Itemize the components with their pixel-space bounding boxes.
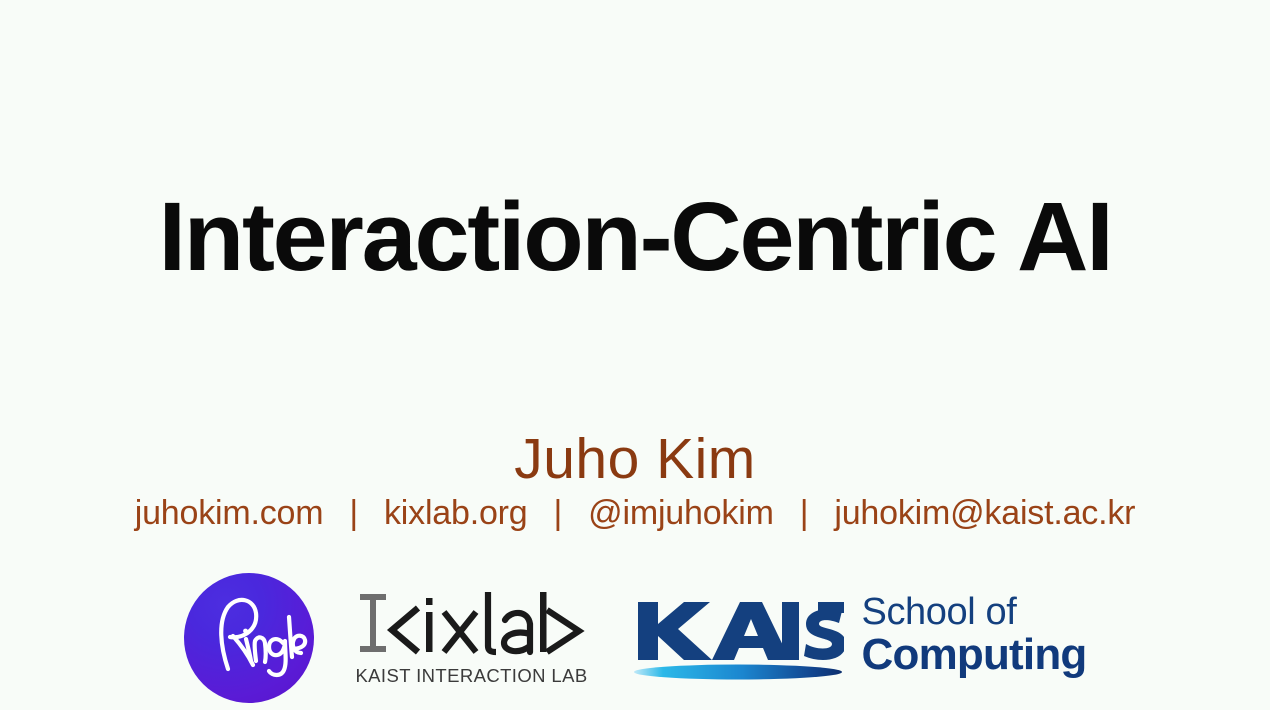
contact-link-website[interactable]: juhokim.com xyxy=(131,494,328,533)
contact-link-email[interactable]: juhokim@kaist.ac.kr xyxy=(830,494,1139,533)
kaist-wordmark xyxy=(632,592,844,684)
contact-link-social[interactable]: @imjuhokim xyxy=(584,494,778,533)
kixlab-logo: KAIST INTERACTION LAB xyxy=(356,586,588,690)
ringle-logo xyxy=(184,573,314,703)
page-title: Interaction-Centric AI xyxy=(0,186,1270,288)
school-of-computing-text: School of Computing xyxy=(862,593,1087,683)
title-slide: Interaction-Centric AI Juho Kim juhokim.… xyxy=(0,0,1270,710)
logo-row: KAIST INTERACTION LAB xyxy=(0,566,1270,710)
contact-separator: | xyxy=(327,494,380,533)
author-name: Juho Kim xyxy=(0,428,1270,491)
contact-separator: | xyxy=(532,494,585,533)
contact-links: juhokim.com | kixlab.org | @imjuhokim | … xyxy=(0,494,1270,533)
computing-label: Computing xyxy=(862,633,1087,677)
kaist-school-of-computing-logo: School of Computing xyxy=(632,592,1087,684)
contact-link-lab[interactable]: kixlab.org xyxy=(380,494,532,533)
kixlab-subtitle: KAIST INTERACTION LAB xyxy=(355,665,587,687)
contact-separator: | xyxy=(778,494,831,533)
kixlab-wordmark-icon xyxy=(356,586,588,662)
ringle-wordmark-icon xyxy=(184,573,314,703)
kaist-wordmark-icon xyxy=(632,592,844,684)
school-of-label: School of xyxy=(862,593,1087,631)
